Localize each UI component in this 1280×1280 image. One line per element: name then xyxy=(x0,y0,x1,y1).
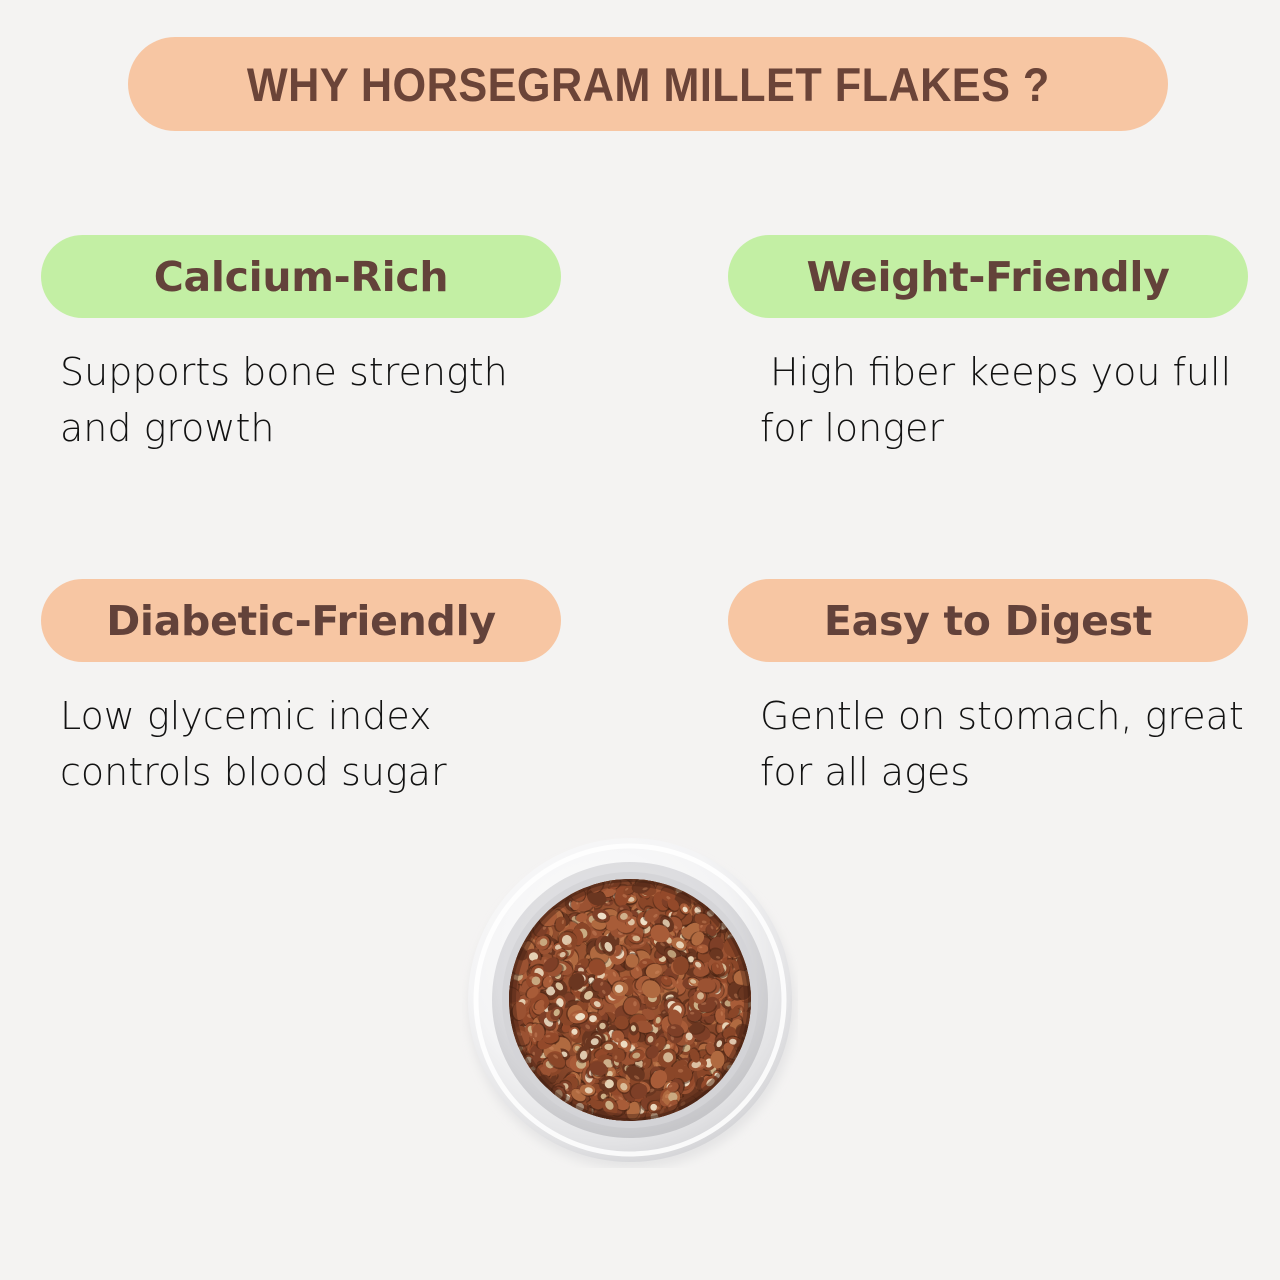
feature-description-line: Gentle on stomach, great xyxy=(760,689,1260,745)
feature-label: Weight-Friendly xyxy=(806,253,1169,301)
feature-description-line: controls blood sugar xyxy=(60,745,560,801)
feature-card-weight-friendly: Weight-Friendly High fiber keeps you ful… xyxy=(728,235,1248,457)
feature-card-diabetic-friendly: Diabetic-Friendly Low glycemic index con… xyxy=(41,579,561,801)
feature-pill-weight-friendly: Weight-Friendly xyxy=(728,235,1248,318)
product-bowl-image xyxy=(462,832,798,1168)
page-title: WHY HORSEGRAM MILLET FLAKES ? xyxy=(247,57,1050,112)
feature-description: High fiber keeps you full for longer xyxy=(728,345,1260,457)
feature-label: Calcium-Rich xyxy=(154,253,449,301)
feature-label: Diabetic-Friendly xyxy=(106,597,496,645)
feature-description: Gentle on stomach, great for all ages xyxy=(728,689,1260,801)
feature-pill-calcium-rich: Calcium-Rich xyxy=(41,235,561,318)
feature-description-line: for all ages xyxy=(760,745,1260,801)
feature-description-line: and growth xyxy=(60,401,560,457)
feature-description-line: High fiber keeps you full xyxy=(760,345,1260,401)
feature-description: Low glycemic index controls blood sugar xyxy=(41,689,560,801)
feature-description-line: Low glycemic index xyxy=(60,689,560,745)
feature-description-line: for longer xyxy=(760,401,1260,457)
title-banner: WHY HORSEGRAM MILLET FLAKES ? xyxy=(128,37,1168,131)
feature-card-easy-to-digest: Easy to Digest Gentle on stomach, great … xyxy=(728,579,1248,801)
feature-pill-diabetic-friendly: Diabetic-Friendly xyxy=(41,579,561,662)
feature-description: Supports bone strength and growth xyxy=(41,345,560,457)
feature-label: Easy to Digest xyxy=(824,597,1152,645)
feature-pill-easy-to-digest: Easy to Digest xyxy=(728,579,1248,662)
feature-description-line: Supports bone strength xyxy=(60,345,560,401)
feature-card-calcium-rich: Calcium-Rich Supports bone strength and … xyxy=(41,235,561,457)
